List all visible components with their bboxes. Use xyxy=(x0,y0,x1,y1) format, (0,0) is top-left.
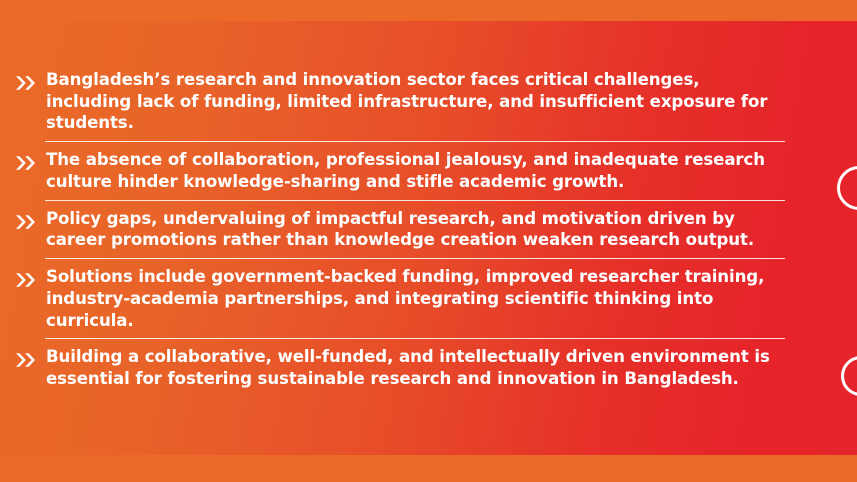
list-item: Building a collaborative, well-funded, a… xyxy=(0,346,857,389)
list-item-label: Solutions include government-backed fund… xyxy=(46,266,787,331)
list-item-label: The absence of collaboration, profession… xyxy=(46,149,787,192)
list-divider xyxy=(45,338,785,339)
slide-content: Bangladesh’s research and innovation sec… xyxy=(0,21,857,455)
list-item-label: Bangladesh’s research and innovation sec… xyxy=(46,69,787,134)
slide-canvas: Bangladesh’s research and innovation sec… xyxy=(0,0,857,482)
bottom-accent-band xyxy=(0,455,857,482)
double-chevron-right-icon xyxy=(14,349,40,371)
list-item: Policy gaps, undervaluing of impactful r… xyxy=(0,208,857,251)
list-divider xyxy=(45,258,785,259)
double-chevron-right-icon xyxy=(14,269,40,291)
list-item: Solutions include government-backed fund… xyxy=(0,266,857,331)
list-divider xyxy=(45,200,785,201)
list-item: The absence of collaboration, profession… xyxy=(0,149,857,192)
double-chevron-right-icon xyxy=(14,152,40,174)
top-accent-band xyxy=(0,0,857,21)
list-divider xyxy=(45,141,785,142)
list-item: Bangladesh’s research and innovation sec… xyxy=(0,69,857,134)
list-item-label: Building a collaborative, well-funded, a… xyxy=(46,346,787,389)
double-chevron-right-icon xyxy=(14,72,40,94)
summary-bullet-list: Bangladesh’s research and innovation sec… xyxy=(0,69,857,390)
list-item-label: Policy gaps, undervaluing of impactful r… xyxy=(46,208,787,251)
double-chevron-right-icon xyxy=(14,211,40,233)
